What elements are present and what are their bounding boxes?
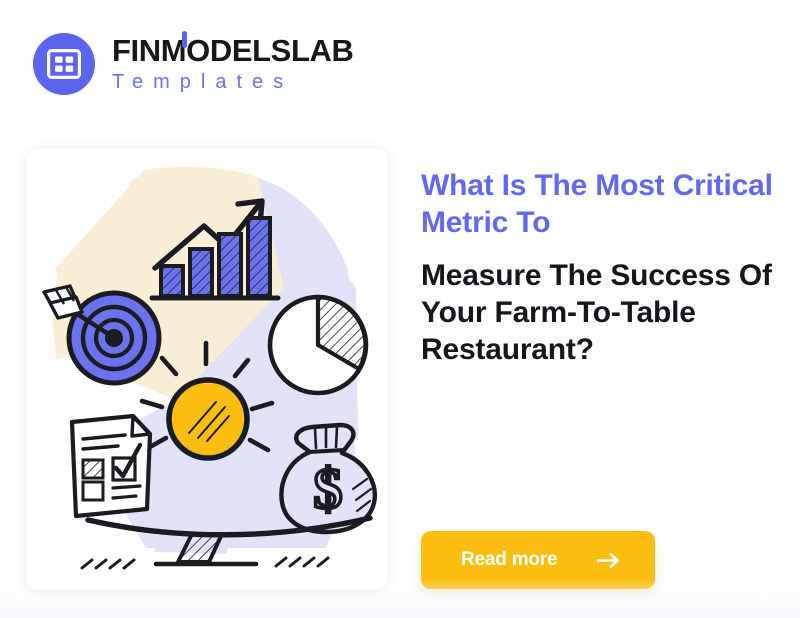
read-more-label: Read more (461, 549, 557, 571)
document-with-checkmark (72, 416, 150, 516)
page-title: What Is The Most Critical Metric To Meas… (421, 168, 773, 368)
headline-line-purple: What Is The Most Critical Metric To (421, 168, 773, 242)
svg-text:$: $ (314, 456, 343, 521)
logo-o-accent-bar (182, 31, 187, 48)
brand-header[interactable]: FINMODELSLAB Templates (33, 33, 353, 95)
brand-name: FINMODELSLAB (112, 35, 353, 68)
illustration-panel: $ (26, 148, 388, 590)
pie-chart (270, 297, 366, 393)
headline-line-dark: Measure The Success Of Your Farm-To-Tabl… (421, 258, 773, 369)
headline-block: What Is The Most Critical Metric To Meas… (421, 168, 773, 368)
brand-wordmark: FINMODELSLAB Templates (112, 33, 353, 95)
arrow-right-icon (597, 553, 621, 568)
read-more-button[interactable]: Read more (421, 531, 655, 589)
promo-card: FINMODELSLAB Templates (0, 0, 800, 618)
brand-name-text: FINMODELSLAB (112, 33, 353, 68)
business-analytics-illustration: $ (26, 148, 388, 590)
brand-subtitle: Templates (112, 69, 353, 95)
grid-squares-icon (47, 49, 81, 79)
finmodelslab-logo-mark[interactable] (33, 33, 95, 95)
